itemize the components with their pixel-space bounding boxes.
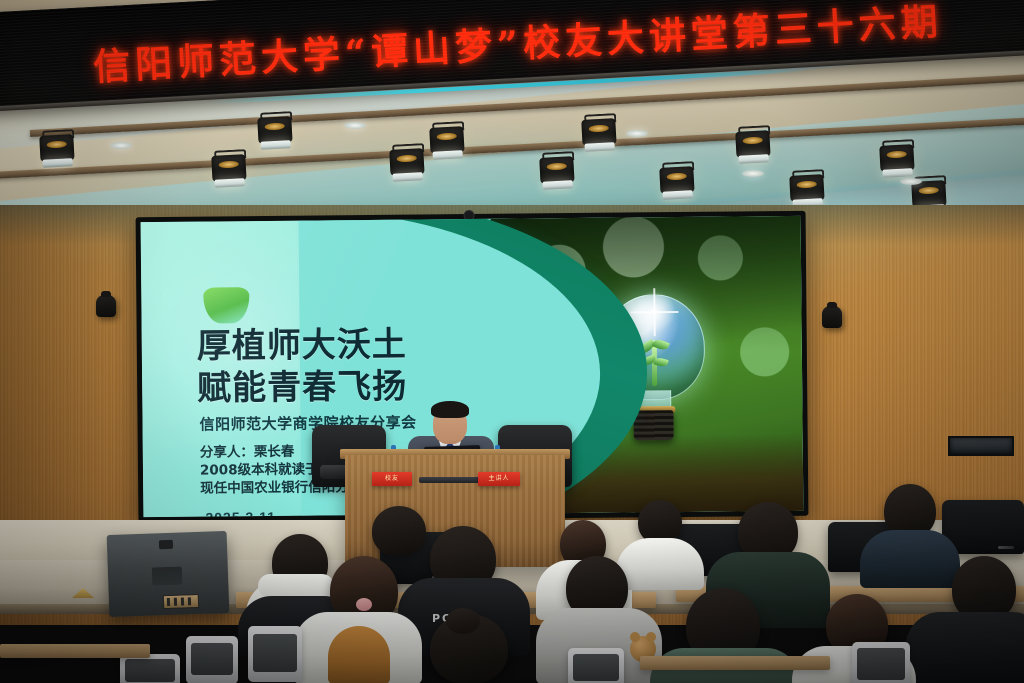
stage-light-icon xyxy=(879,139,915,181)
downlight-icon xyxy=(742,170,764,177)
wall-speaker-icon xyxy=(822,306,842,328)
nameplate-left: 校友 xyxy=(372,472,412,486)
slide-title: 厚植师大沃土 赋能青春飞扬 xyxy=(197,324,408,410)
audience-shoulders xyxy=(860,530,960,588)
floor-monitor-speaker xyxy=(107,531,230,617)
stage-light-icon xyxy=(735,125,771,167)
audience-chair xyxy=(568,648,624,683)
lecture-hall-photo: 信阳师范大学“谭山梦”校友大讲堂第三十六期 xyxy=(0,0,1024,683)
downlight-icon xyxy=(110,142,132,149)
stage-light-icon xyxy=(581,113,617,155)
speaker-connector-panel xyxy=(163,594,199,609)
nameplate-left-text: 校友 xyxy=(372,472,412,486)
nameplate-right-text: 主讲人 xyxy=(478,472,520,486)
slide-title-line-1: 厚植师大沃土 xyxy=(197,324,407,368)
audience-desk xyxy=(640,656,830,670)
downlight-icon xyxy=(344,122,366,129)
stage-light-icon xyxy=(389,143,425,185)
audience-head xyxy=(372,506,426,556)
audience-vest xyxy=(328,626,390,683)
audience-jacket xyxy=(906,612,1024,683)
audience-chair xyxy=(852,642,910,683)
downlight-icon xyxy=(626,130,648,137)
stage-light-icon xyxy=(257,111,293,153)
hair-scrunchie xyxy=(356,598,372,611)
audience-chair xyxy=(186,636,238,683)
wall-vent-grille xyxy=(948,436,1014,456)
audience-chair xyxy=(120,654,180,683)
audience-shoulders xyxy=(616,538,704,590)
stage-light-icon xyxy=(429,121,465,163)
audience-desk xyxy=(0,644,150,658)
speaker-logo xyxy=(152,567,183,586)
wall-speaker-icon xyxy=(96,295,116,317)
slide-title-line-2: 赋能青春飞扬 xyxy=(197,366,407,410)
speaker-hair xyxy=(431,401,469,418)
stage-light-icon xyxy=(659,161,695,203)
stage-light-icon xyxy=(539,151,575,193)
downlight-icon xyxy=(900,178,922,185)
stage-light-icon xyxy=(211,149,247,191)
speaker-handle xyxy=(159,540,173,549)
hoodie-collar xyxy=(258,574,334,598)
stage-light-icon xyxy=(39,129,75,171)
presenter-laptop-base xyxy=(419,477,485,483)
audience-chair xyxy=(248,626,302,682)
slide-date: 2025.3.11 xyxy=(205,509,276,517)
hair-bun xyxy=(446,608,480,634)
nameplate-right: 主讲人 xyxy=(478,472,520,486)
